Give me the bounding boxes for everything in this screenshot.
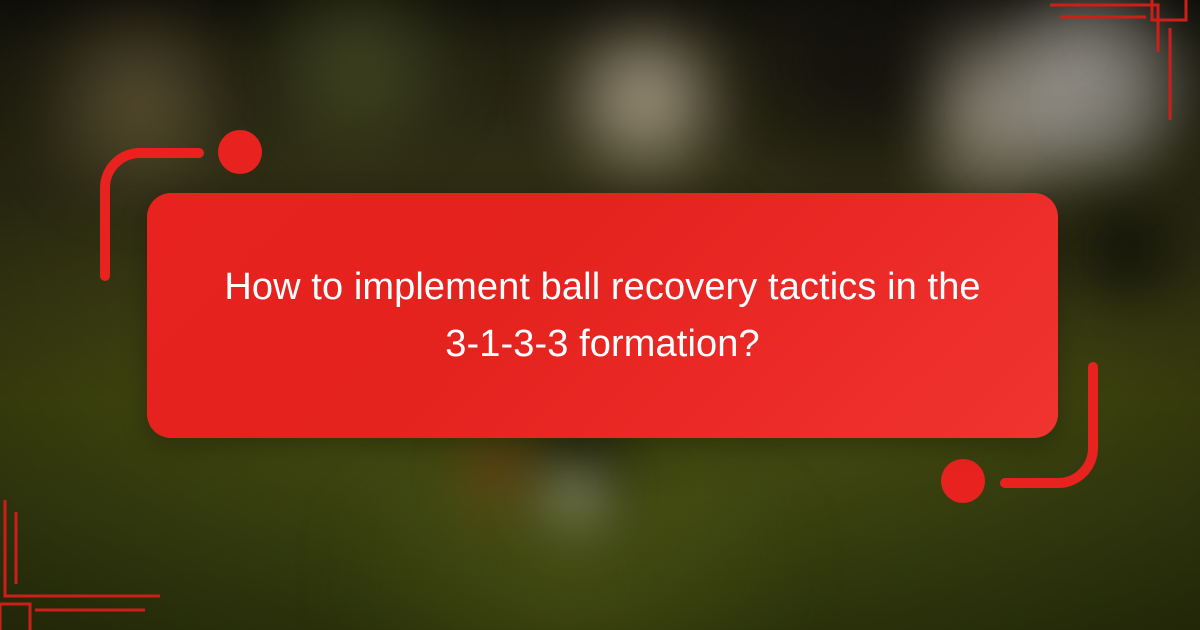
poster-canvas: How to implement ball recovery tactics i… [0,0,1200,630]
headline-title: How to implement ball recovery tactics i… [156,259,1050,373]
accent-dot-bottom-right [941,459,985,503]
accent-dot-top-left [218,130,262,174]
headline-card: How to implement ball recovery tactics i… [147,193,1058,438]
